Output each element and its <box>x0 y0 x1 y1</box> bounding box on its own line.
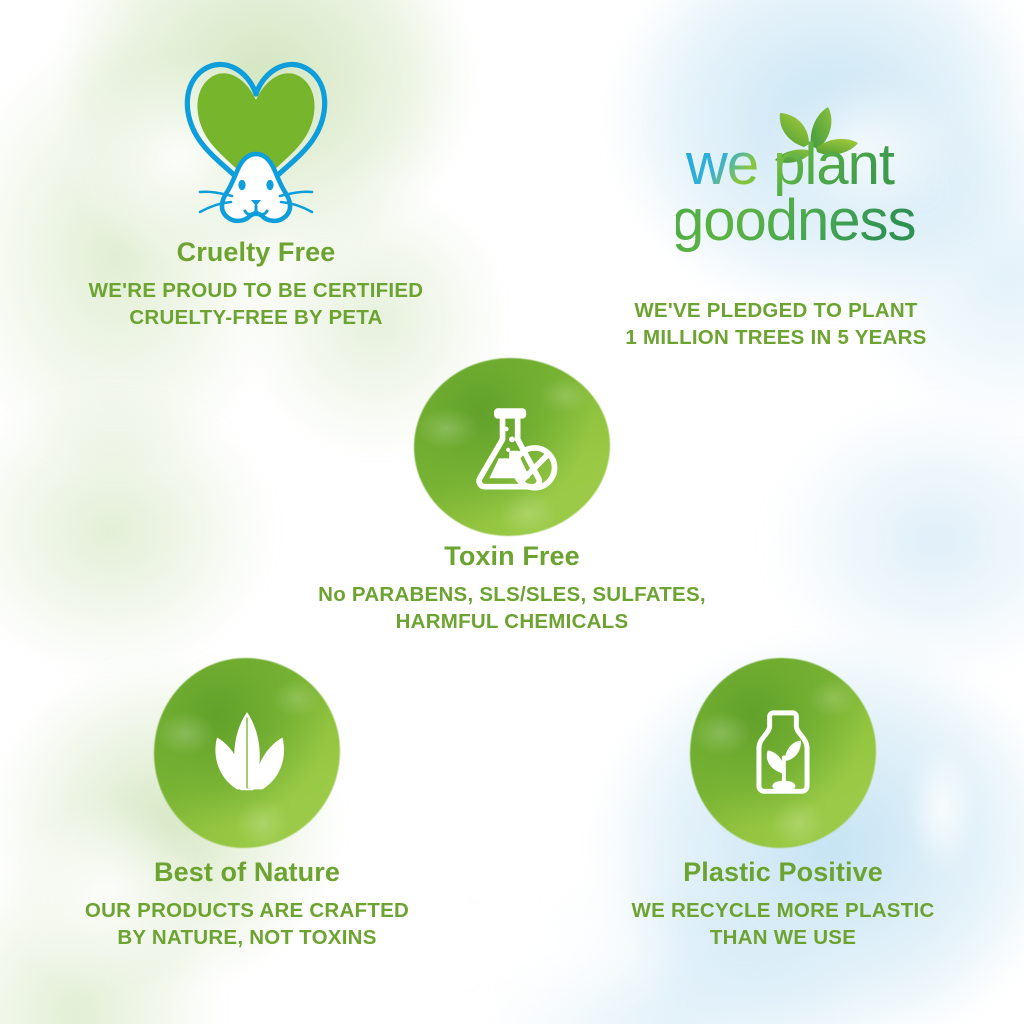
block-desc-line: THAN WE USE <box>558 924 1008 951</box>
block-desc-line: WE'VE PLEDGED TO PLANT <box>546 297 1006 324</box>
block-desc-line: HARMFUL CHEMICALS <box>292 608 732 635</box>
badge-best-of-nature <box>154 658 340 848</box>
bottle-sprout-icon <box>690 658 876 848</box>
block-desc-line: WE RECYCLE MORE PLASTIC <box>558 897 1008 924</box>
badge-toxin-free <box>414 358 610 536</box>
block-desc-cruelty-free: WE'RE PROUD TO BE CERTIFIED CRUELTY-FREE… <box>26 277 486 331</box>
svg-text:goodness: goodness <box>676 188 916 252</box>
block-desc-line: WE'RE PROUD TO BE CERTIFIED <box>26 277 486 304</box>
block-title-toxin-free: Toxin Free <box>292 542 732 572</box>
value-block-best-of-nature: Best of Nature OUR PRODUCTS ARE CRAFTED … <box>22 658 472 951</box>
value-block-cruelty-free: Cruelty Free WE'RE PROUD TO BE CERTIFIED… <box>26 238 486 331</box>
badge-plastic-positive <box>690 658 876 848</box>
value-block-toxin-free: Toxin Free No PARABENS, SLS/SLES, SULFAT… <box>292 358 732 635</box>
block-desc-toxin-free: No PARABENS, SLS/SLES, SULFATES, HARMFUL… <box>292 581 732 635</box>
value-block-we-plant-goodness: WE'VE PLEDGED TO PLANT 1 MILLION TREES I… <box>546 288 1006 351</box>
block-desc-line: No PARABENS, SLS/SLES, SULFATES, <box>292 581 732 608</box>
block-desc-best-of-nature: OUR PRODUCTS ARE CRAFTED BY NATURE, NOT … <box>22 897 472 951</box>
value-block-plastic-positive: Plastic Positive WE RECYCLE MORE PLASTIC… <box>558 658 1008 951</box>
block-desc-line: CRUELTY-FREE BY PETA <box>26 304 486 331</box>
three-leaves-icon <box>154 658 340 848</box>
block-title-plastic-positive: Plastic Positive <box>558 858 1008 888</box>
block-desc-line: OUR PRODUCTS ARE CRAFTED <box>22 897 472 924</box>
block-desc-plastic-positive: WE RECYCLE MORE PLASTIC THAN WE USE <box>558 897 1008 951</box>
infographic-canvas: we plant goodness Cruelty Free WE'RE PRO… <box>0 0 1024 1024</box>
we-plant-goodness-logo: we plant goodness <box>676 100 966 252</box>
block-title-cruelty-free: Cruelty Free <box>26 238 486 268</box>
block-title-best-of-nature: Best of Nature <box>22 858 472 888</box>
block-desc-line: BY NATURE, NOT TOXINS <box>22 924 472 951</box>
peta-bunny-heart-icon <box>168 38 344 226</box>
block-desc-we-plant-goodness: WE'VE PLEDGED TO PLANT 1 MILLION TREES I… <box>546 297 1006 351</box>
flask-no-entry-icon <box>414 358 610 536</box>
block-desc-line: 1 MILLION TREES IN 5 YEARS <box>546 324 1006 351</box>
